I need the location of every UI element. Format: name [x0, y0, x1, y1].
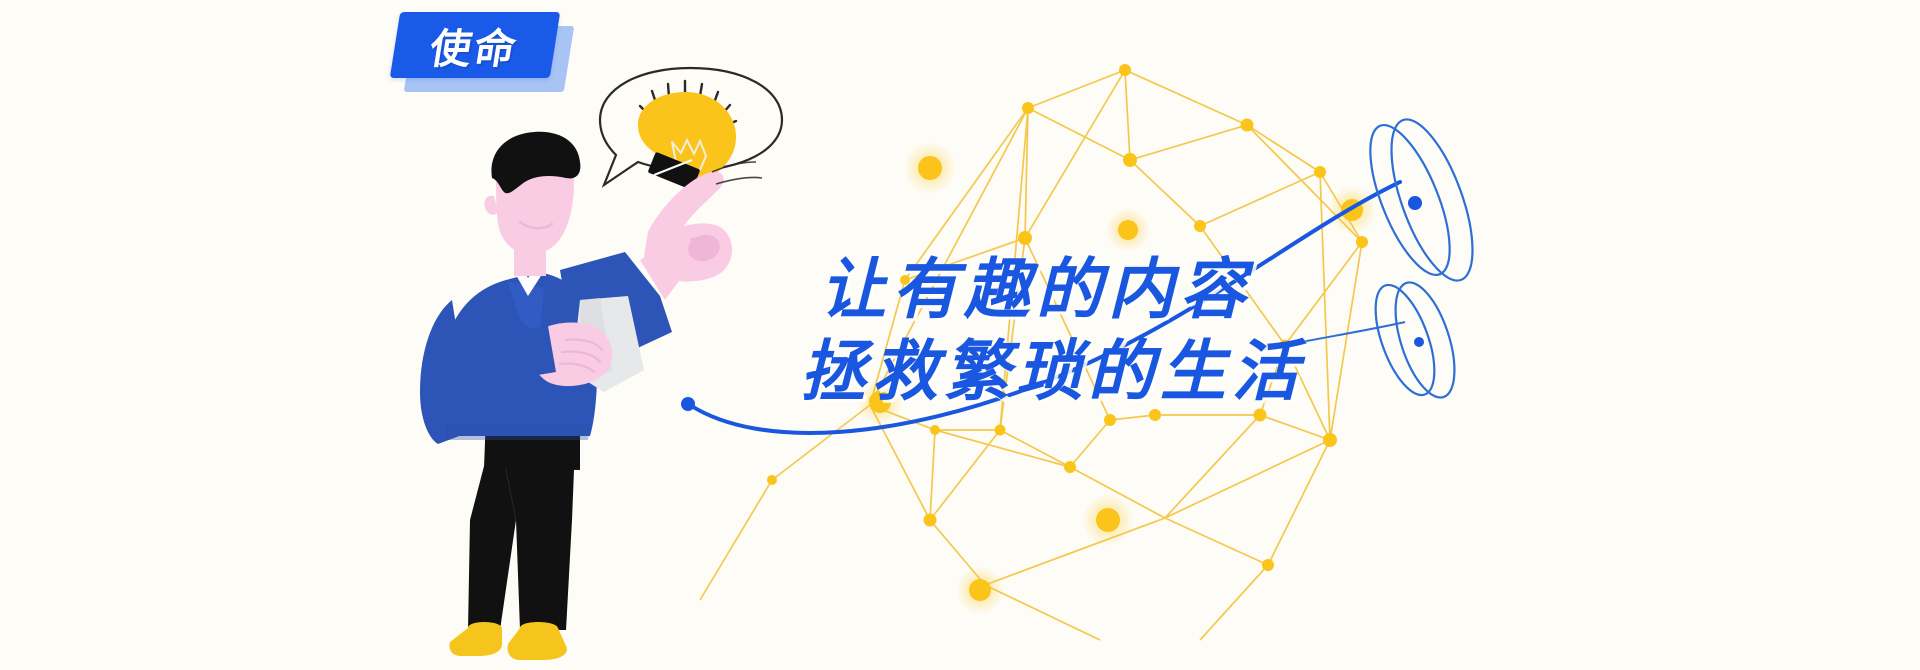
headline-line-2: 拯救繁琐的生活 — [800, 330, 1304, 412]
character-shoes — [450, 622, 567, 660]
character-head — [484, 132, 580, 276]
headline-line-1: 让有趣的内容 — [820, 248, 1304, 330]
mission-badge[interactable]: 使命 — [395, 12, 555, 80]
mission-banner: 让有趣的内容 拯救繁琐的生活 — [0, 0, 1920, 670]
badge-label: 使命 — [390, 12, 560, 78]
thought-bubble — [600, 68, 782, 190]
page-headline: 让有趣的内容 拯救繁琐的生活 — [820, 248, 1304, 412]
character-legs — [468, 416, 580, 630]
holding-hand — [504, 323, 612, 387]
